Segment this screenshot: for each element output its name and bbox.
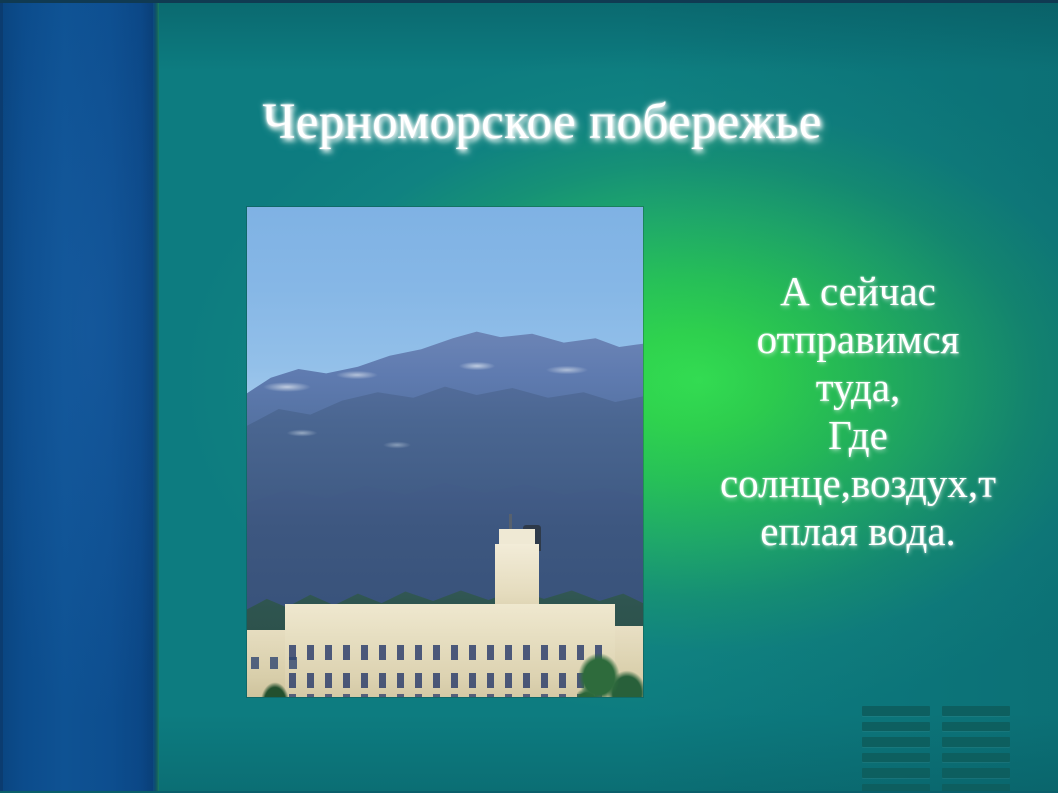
- left-side-band: [0, 0, 153, 793]
- decoration-bar: [942, 737, 1010, 747]
- slide-body-text: А сейчас отправимся туда, Где солнце,воз…: [662, 268, 1054, 556]
- bar-block-decoration: [862, 706, 1010, 793]
- photo-building-windows-row2: [289, 673, 611, 688]
- photo-building-windows-row1: [289, 645, 611, 660]
- decoration-column-left: [862, 706, 930, 793]
- body-line-1: А сейчас: [662, 268, 1054, 316]
- body-line-6: еплая вода.: [662, 508, 1054, 556]
- decoration-bar: [862, 768, 930, 778]
- decoration-column-right: [942, 706, 1010, 793]
- black-sea-coast-photo: [247, 207, 643, 697]
- body-line-2: отправимся: [662, 316, 1054, 364]
- body-line-4: Где: [662, 412, 1054, 460]
- slide: Черноморское побережье: [0, 0, 1058, 793]
- body-line-5: солнце,воздух,т: [662, 460, 1054, 508]
- decoration-bar: [942, 784, 1010, 793]
- photo-trees-right: [577, 637, 643, 697]
- photo-building-windows-wing: [251, 657, 305, 669]
- left-side-band-edge: [0, 0, 153, 793]
- photo-mountain-snow: [247, 357, 643, 487]
- side-band-divider: [153, 0, 159, 793]
- decoration-bar: [942, 768, 1010, 778]
- body-line-3: туда,: [662, 364, 1054, 412]
- decoration-bar: [942, 722, 1010, 732]
- decoration-bar: [862, 722, 930, 732]
- photo-trees-middle: [307, 693, 587, 697]
- slide-title: Черноморское побережье: [182, 96, 902, 150]
- decoration-bar: [942, 753, 1010, 763]
- photo-tree-left: [255, 673, 295, 697]
- decoration-bar: [862, 784, 930, 793]
- decoration-bar: [942, 706, 1010, 716]
- decoration-bar: [862, 753, 930, 763]
- decoration-bar: [862, 706, 930, 716]
- decoration-bar: [862, 737, 930, 747]
